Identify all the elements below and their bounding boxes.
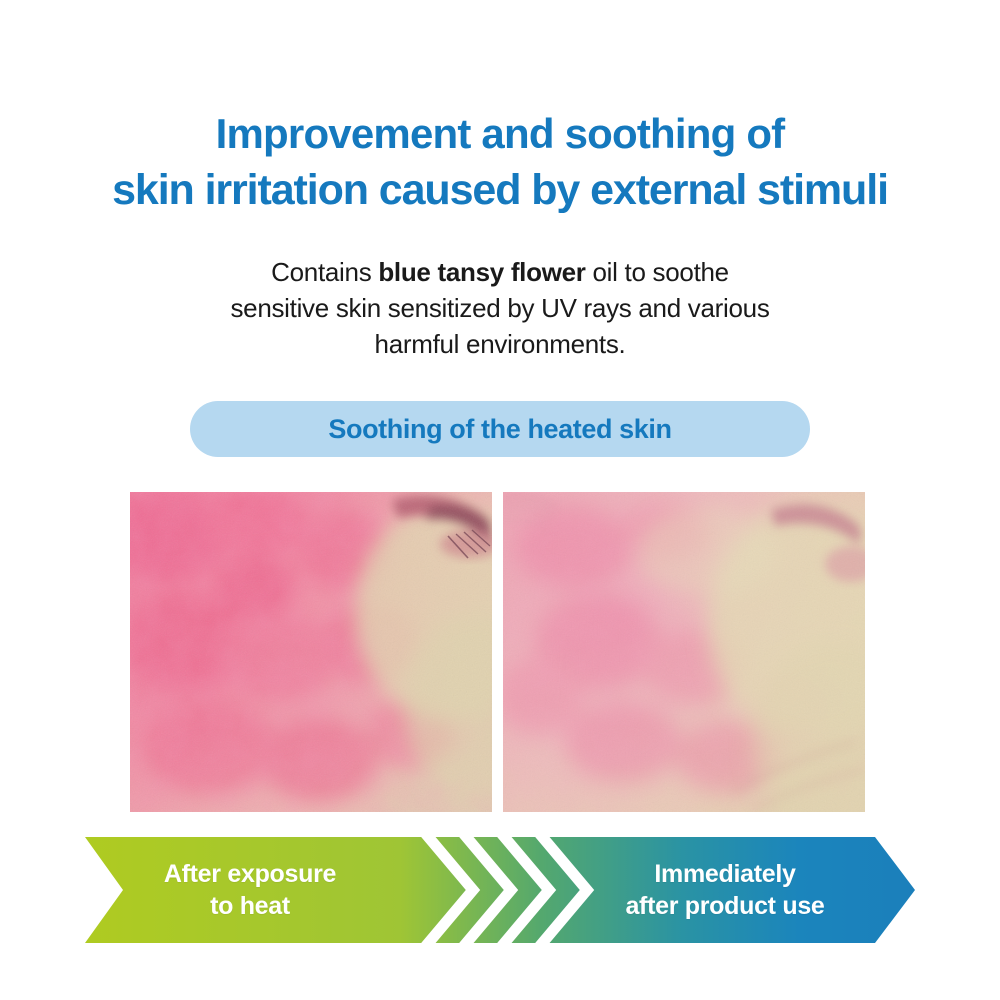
headline-line-2: skin irritation caused by external stimu… bbox=[0, 162, 1000, 218]
subtitle-line-2: sensitive skin sensitized by UV rays and… bbox=[150, 290, 850, 326]
subtitle-text-before: Contains bbox=[271, 257, 378, 287]
subtitle-text-after: oil to soothe bbox=[586, 257, 729, 287]
subtitle-line-1: Contains blue tansy flower oil to soothe bbox=[150, 254, 850, 290]
pill-label: Soothing of the heated skin bbox=[328, 414, 671, 445]
caption-after-line-1: Immediately bbox=[565, 858, 885, 890]
subtitle-highlight: blue tansy flower bbox=[378, 257, 585, 287]
headline-line-1: Improvement and soothing of bbox=[0, 106, 1000, 162]
caption-after: Immediately after product use bbox=[565, 858, 885, 922]
caption-before-line-1: After exposure bbox=[105, 858, 395, 890]
caption-before: After exposure to heat bbox=[105, 858, 395, 922]
photo-after-product bbox=[503, 492, 865, 812]
before-after-photo-pair bbox=[130, 492, 865, 812]
caption-before-line-2: to heat bbox=[105, 890, 395, 922]
page-title: Improvement and soothing of skin irritat… bbox=[0, 106, 1000, 218]
photo-before-heat bbox=[130, 492, 492, 812]
subtitle-paragraph: Contains blue tansy flower oil to soothe… bbox=[150, 254, 850, 362]
subtitle-line-3: harmful environments. bbox=[150, 326, 850, 362]
section-pill-banner: Soothing of the heated skin bbox=[190, 401, 810, 457]
caption-after-line-2: after product use bbox=[565, 890, 885, 922]
infographic-page: Improvement and soothing of skin irritat… bbox=[0, 0, 1000, 1000]
